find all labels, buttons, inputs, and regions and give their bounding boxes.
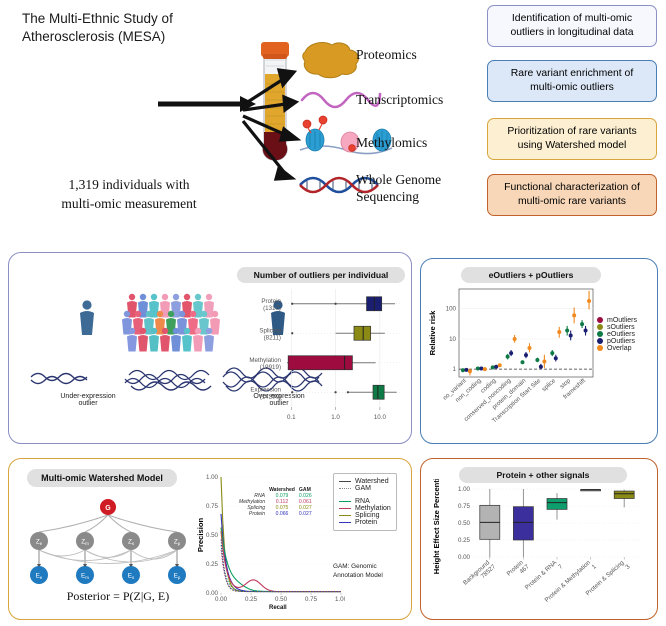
svg-text:(8211): (8211): [264, 334, 281, 341]
svg-text:0.50: 0.50: [206, 532, 219, 539]
legend-item-mOutliers: mOutliers: [597, 317, 637, 324]
svg-text:0.50: 0.50: [275, 596, 288, 603]
watershed-dag-svg: GZeZmZsZpEeEmEsEp: [15, 495, 215, 585]
aim-1-line1: Identification of multi-omic: [510, 12, 633, 26]
gam-note: GAM: Genomic Annotation Model: [333, 563, 383, 581]
aim-3-line1: Prioritization of rare variants: [507, 125, 636, 139]
svg-text:10: 10: [449, 336, 456, 343]
svg-text:0.50: 0.50: [458, 520, 471, 527]
svg-text:1.00: 1.00: [458, 486, 471, 493]
legend-line-rna: [339, 501, 351, 502]
posterior-equation: Posterior = P(Z|G, E): [33, 589, 203, 604]
legend-dot-pOutliers: [597, 338, 603, 344]
chart-outliers-per-individual: Number of outliers per individual 0.11.0…: [237, 267, 405, 432]
svg-text:0.25: 0.25: [458, 537, 471, 544]
pr-legend-label-watershed: Watershed: [355, 478, 389, 485]
pr-legend-methylation: Methylation: [339, 505, 391, 512]
pr-legend-label-gam: GAM: [355, 485, 371, 492]
svg-text:7: 7: [557, 563, 565, 571]
svg-text:1.0: 1.0: [331, 414, 340, 421]
watershed-model-title: Multi-omic Watershed Model: [27, 469, 177, 487]
pr-row-name-protein: Protein: [237, 511, 267, 517]
legend-dot-sOutliers: [597, 324, 603, 330]
person-icon-under: [80, 300, 94, 335]
svg-text:Methylation: Methylation: [249, 357, 281, 364]
svg-text:0.75: 0.75: [458, 503, 471, 510]
pr-legend-splicing: Splicing: [339, 512, 391, 519]
cohort-people-illustration: [18, 50, 233, 168]
legend-line-gam: [339, 488, 351, 489]
svg-text:1: 1: [453, 366, 457, 373]
under-expression-line2: outlier: [23, 400, 153, 407]
aim-4-line2: multi-omic rare variants: [504, 195, 640, 209]
legend-label-eOutliers: eOutliers: [607, 331, 635, 338]
svg-text:0.00: 0.00: [215, 596, 228, 603]
svg-text:0.25: 0.25: [245, 596, 258, 603]
pr-legend-gam: GAM: [339, 485, 391, 492]
panel-relative-risk: eOutliers + pOutliers 110100no_variantno…: [420, 258, 658, 444]
legend-line-splicing: [339, 515, 351, 516]
omic-label-proteomics: Proteomics: [356, 47, 417, 63]
cohort-caption: 1,319 individuals with multi-omic measur…: [14, 176, 244, 214]
omic-label-wgs-line2: Sequencing: [356, 189, 441, 206]
gam-note-line2: Annotation Model: [333, 572, 383, 581]
svg-text:1: 1: [591, 563, 599, 571]
aim-3-line2: using Watershed model: [507, 139, 636, 153]
aim-box-rare-variant[interactable]: Rare variant enrichment of multi-omic ou…: [487, 60, 657, 102]
crowd-icon: [122, 294, 220, 352]
panel-height-effect-size: Protein + other signals 0.000.250.500.75…: [420, 458, 658, 620]
gam-note-line1: GAM: Genomic: [333, 563, 383, 572]
svg-text:0.1: 0.1: [287, 414, 296, 421]
legend-item-sOutliers: sOutliers: [597, 324, 637, 331]
pr-table-row-protein: Protein 0.066 0.027: [237, 511, 314, 517]
svg-text:10.0: 10.0: [374, 414, 387, 421]
pr-legend-box: Watershed GAM RNA Methylation Splicing P…: [333, 473, 397, 531]
panel-outlier-identification: Under-expression outlier Over-expression…: [8, 252, 412, 444]
protein-blob-icon: [303, 43, 359, 78]
omic-label-transcriptomics: Transcriptomics: [356, 92, 443, 108]
svg-text:Height Effect Size Percentile: Height Effect Size Percentile: [432, 479, 441, 574]
legend-dot-eOutliers: [597, 331, 603, 337]
pr-legend-label-protein: Protein: [355, 519, 377, 526]
svg-text:0.75: 0.75: [206, 503, 219, 510]
svg-text:Protein: Protein: [261, 298, 281, 305]
cohort-caption-line2: multi-omic measurement: [14, 195, 244, 214]
panel-watershed-model: Multi-omic Watershed Model GZeZmZsZpEeEm…: [8, 458, 412, 620]
pr-legend-label-rna: RNA: [355, 498, 370, 505]
svg-text:0.00: 0.00: [458, 554, 471, 561]
svg-text:Protein & RNA: Protein & RNA: [524, 559, 559, 592]
under-expression-caption: Under-expression outlier: [23, 393, 153, 407]
svg-text:Splicing: Splicing: [259, 327, 281, 334]
aim-2-line1: Rare variant enrichment of: [511, 67, 633, 81]
study-title-line1: The Multi-Ethnic Study of: [22, 10, 272, 28]
study-title-line2: Atherosclerosis (MESA): [22, 28, 272, 46]
legend-line-protein: [339, 522, 351, 523]
legend-item-Overlap: Overlap: [597, 345, 637, 352]
svg-text:(14290): (14290): [260, 393, 281, 400]
legend-dot-Overlap: [597, 345, 603, 351]
svg-text:Relative risk: Relative risk: [428, 310, 437, 356]
svg-text:(19919): (19919): [260, 364, 281, 371]
pr-legend-label-splicing: Splicing: [355, 512, 380, 519]
legend-dot-mOutliers: [597, 317, 603, 323]
aim-1-line2: outliers in longitudinal data: [510, 26, 633, 40]
omic-label-wgs: Whole Genome Sequencing: [356, 172, 441, 206]
legend-label-Overlap: Overlap: [607, 345, 632, 352]
aim-box-prioritization[interactable]: Prioritization of rare variants using Wa…: [487, 118, 657, 160]
boxplot-svg-outliers: 0.11.010.0Protein(1317)Splicing(8211)Met…: [237, 283, 405, 431]
svg-text:Precision: Precision: [196, 518, 205, 553]
legend-line-watershed: [339, 481, 351, 482]
height-effect-boxplot-svg: 0.000.250.500.751.00Background78527Prote…: [427, 479, 653, 617]
aim-2-line2: multi-omic outliers: [511, 81, 633, 95]
svg-text:1.00: 1.00: [206, 474, 219, 481]
legend-label-pOutliers: pOutliers: [607, 338, 635, 345]
pr-auc-table: Watershed GAM RNA 0.079 0.026 Methylatio…: [237, 487, 314, 517]
pr-xlabel: Recall: [269, 605, 287, 611]
svg-text:3: 3: [624, 563, 632, 571]
under-expression-line1: Under-expression: [23, 393, 153, 400]
relative-risk-scatter-svg: 110100no_variantnon_codingcodingconserve…: [425, 281, 615, 439]
svg-text:0.75: 0.75: [305, 596, 318, 603]
chart-title-outliers: Number of outliers per individual: [237, 267, 405, 283]
pr-legend-rna: RNA: [339, 498, 391, 505]
cohort-caption-line1: 1,319 individuals with: [14, 176, 244, 195]
svg-text:1.00: 1.00: [335, 596, 345, 603]
relative-risk-legend: mOutliers sOutliers eOutliers pOutliers …: [597, 317, 637, 352]
svg-text:(1317): (1317): [263, 305, 281, 312]
svg-text:Expression: Expression: [250, 386, 281, 393]
aim-box-identification[interactable]: Identification of multi-omic outliers in…: [487, 5, 657, 47]
legend-item-eOutliers: eOutliers: [597, 331, 637, 338]
pr-legend-watershed: Watershed: [339, 478, 391, 485]
svg-text:100: 100: [446, 306, 457, 313]
pr-legend-protein: Protein: [339, 519, 391, 526]
svg-text:splice: splice: [541, 377, 558, 393]
svg-text:0.25: 0.25: [206, 561, 219, 568]
omic-label-methylomics: Methylomics: [356, 135, 427, 151]
aim-box-functional[interactable]: Functional characterization of multi-omi…: [487, 174, 657, 216]
study-title: The Multi-Ethnic Study of Atherosclerosi…: [22, 10, 272, 46]
aim-4-line1: Functional characterization of: [504, 181, 640, 195]
pr-row-gam-protein: 0.027: [297, 511, 314, 517]
blood-collection-tube-icon: [255, 40, 295, 170]
legend-label-mOutliers: mOutliers: [607, 317, 637, 324]
omic-label-wgs-line1: Whole Genome: [356, 172, 441, 189]
legend-label-sOutliers: sOutliers: [607, 324, 635, 331]
legend-item-pOutliers: pOutliers: [597, 338, 637, 345]
svg-text:G: G: [105, 505, 111, 512]
pr-row-ws-protein: 0.066: [267, 511, 297, 517]
legend-line-methylation: [339, 508, 351, 509]
pr-legend-label-methylation: Methylation: [355, 505, 391, 512]
